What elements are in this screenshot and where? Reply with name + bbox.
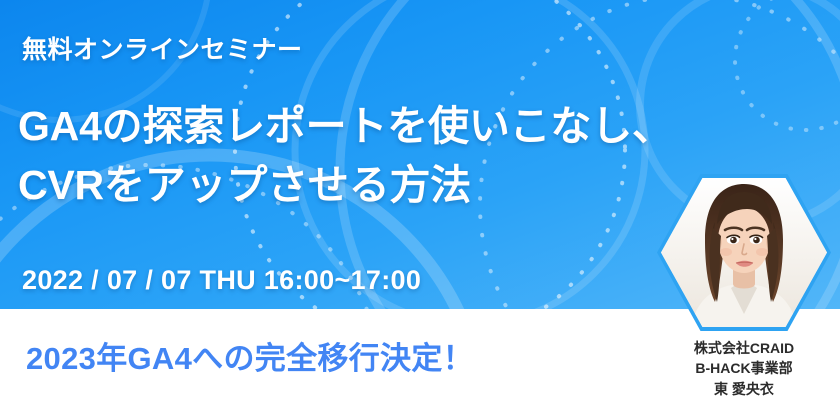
presenter-credit: 株式会社CRAID B-HACK事業部 東 愛央衣 bbox=[656, 338, 832, 399]
seminar-banner: 無料オンラインセミナー GA4の探索レポートを使いこなし、 CVRをアップさせる… bbox=[0, 0, 840, 411]
presenter-portrait bbox=[657, 174, 831, 331]
headline-line-2: CVRをアップさせる方法 bbox=[18, 156, 673, 215]
headline: GA4の探索レポートを使いこなし、 CVRをアップさせる方法 bbox=[18, 97, 673, 216]
event-datetime: 2022 / 07 / 07 THU 16:00~17:00 bbox=[22, 265, 421, 296]
kicker-text: 無料オンラインセミナー bbox=[22, 30, 303, 66]
headline-line-1: GA4の探索レポートを使いこなし、 bbox=[18, 103, 673, 149]
presenter-department: B-HACK事業部 bbox=[656, 358, 832, 378]
presenter-name: 東 愛央衣 bbox=[656, 379, 832, 399]
presenter-company: 株式会社CRAID bbox=[656, 338, 832, 358]
tagline-text: 2023年GA4への完全移行決定！ bbox=[26, 333, 474, 378]
